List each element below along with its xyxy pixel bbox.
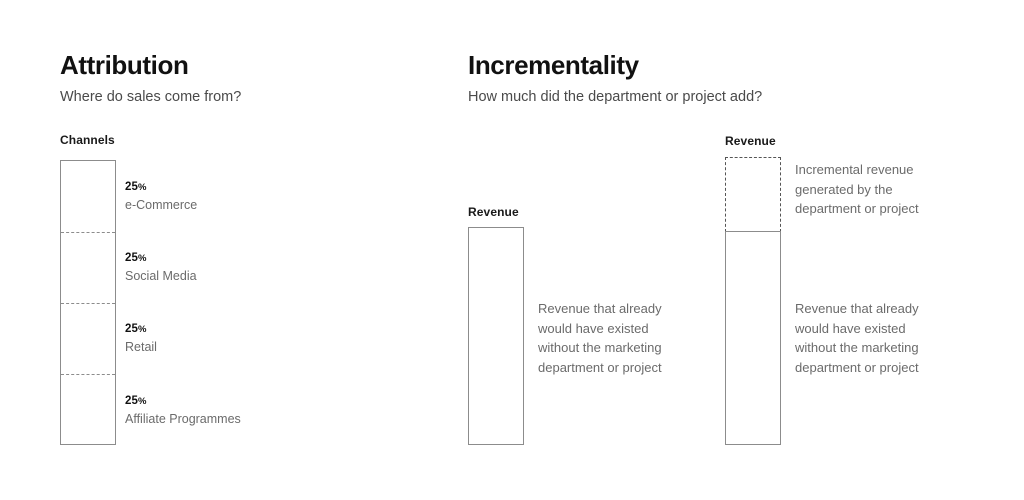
segment-value-unit: % <box>138 396 147 407</box>
incremental-baseline-revenue-bar <box>725 231 781 445</box>
baseline-bar-axis-label: Revenue <box>468 205 519 219</box>
segment-annotation-social-media: 25% Social Media <box>125 251 197 285</box>
segment-label: e-Commerce <box>125 197 197 214</box>
incrementality-subtitle: How much did the department or project a… <box>468 89 762 105</box>
segment-value-number: 25 <box>125 323 138 335</box>
incrementality-title: Incrementality <box>468 50 639 81</box>
segment-value: 25% <box>125 322 157 337</box>
segment-value-number: 25 <box>125 395 138 407</box>
incrementality-panel: Incrementality How much did the departme… <box>460 0 1024 500</box>
segment-value-number: 25 <box>125 252 138 264</box>
baseline-revenue-bar <box>468 227 524 445</box>
incremental-bar-axis-label: Revenue <box>725 134 776 148</box>
segment-value-unit: % <box>138 253 147 264</box>
segment-annotation-affiliate-programmes: 25% Affiliate Programmes <box>125 394 241 428</box>
incremental-segment-description: Incremental revenue generated by the dep… <box>795 160 995 219</box>
attribution-title: Attribution <box>60 50 188 81</box>
segment-value: 25% <box>125 251 197 266</box>
incremental-baseline-description: Revenue that already would have existed … <box>795 299 995 377</box>
attribution-subtitle: Where do sales come from? <box>60 89 241 105</box>
stack-divider <box>61 374 115 375</box>
segment-annotation-retail: 25% Retail <box>125 322 157 356</box>
attribution-stacked-bar <box>60 160 116 445</box>
segment-label: Social Media <box>125 268 197 285</box>
segment-label: Affiliate Programmes <box>125 411 241 428</box>
segment-value-unit: % <box>138 182 147 193</box>
attribution-axis-label: Channels <box>60 133 115 147</box>
segment-value-unit: % <box>138 324 147 335</box>
segment-value-number: 25 <box>125 181 138 193</box>
stack-divider <box>61 232 115 233</box>
stack-divider <box>61 303 115 304</box>
segment-annotation-ecommerce: 25% e-Commerce <box>125 180 197 214</box>
segment-value: 25% <box>125 394 241 409</box>
segment-label: Retail <box>125 339 157 356</box>
attribution-panel: Attribution Where do sales come from? Ch… <box>0 0 460 500</box>
incremental-revenue-segment <box>725 157 781 232</box>
segment-value: 25% <box>125 180 197 195</box>
baseline-bar-description: Revenue that already would have existed … <box>538 299 728 377</box>
